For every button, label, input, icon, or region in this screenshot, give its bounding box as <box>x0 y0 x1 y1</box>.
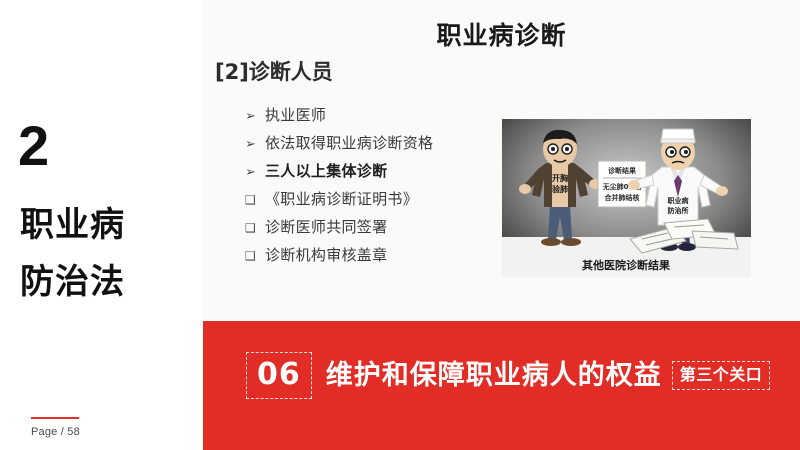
list-item: ❑ 诊断机构审核盖章 <box>245 244 525 272</box>
square-bullet-icon: ❑ <box>245 250 265 262</box>
list-item: ❑ 《职业病诊断证明书》 <box>245 188 525 216</box>
list-item-label: 执业医师 <box>265 104 326 125</box>
banner-badge: 第三个关口 <box>672 361 771 390</box>
bullet-list: ➢ 执业医师 ➢ 依法取得职业病诊断资格 ➢ 三人以上集体诊断 ❑ 《职业病诊断… <box>245 104 525 272</box>
list-item-label: 诊断医师共同签署 <box>265 216 387 237</box>
banner-section-number: 06 <box>246 352 312 399</box>
occupational-disease-diagnosis-cartoon: 开胸 验肺 <box>502 119 751 277</box>
list-item: ❑ 诊断医师共同签署 <box>245 216 525 244</box>
sidebar-title-line-1: 职业病 <box>20 208 125 242</box>
cartoon-illustration-svg: 开胸 验肺 <box>502 119 751 277</box>
page-number-label: Page / 58 <box>31 426 151 438</box>
list-item-label: 诊断机构审核盖章 <box>265 244 387 265</box>
arrow-bullet-icon: ➢ <box>245 109 265 122</box>
square-bullet-icon: ❑ <box>245 194 265 206</box>
section-banner: 06 维护和保障职业病人的权益 第三个关口 <box>203 321 800 450</box>
svg-text:防治所: 防治所 <box>668 206 689 215</box>
arrow-bullet-icon: ➢ <box>245 165 265 178</box>
content-panel: 职业病诊断 [2]诊断人员 ➢ 执业医师 ➢ 依法取得职业病诊断资格 ➢ 三人以… <box>203 0 800 321</box>
section-subtitle: [2]诊断人员 <box>215 56 333 86</box>
slide-canvas: 2 职业病 防治法 Page / 58 职业病诊断 [2]诊断人员 ➢ 执业医师… <box>0 0 800 450</box>
page-divider-rule <box>31 417 79 419</box>
list-item-label: 三人以上集体诊断 <box>265 160 387 181</box>
list-item-label: 依法取得职业病诊断资格 <box>265 132 433 153</box>
svg-text:验肺: 验肺 <box>552 184 568 194</box>
sidebar-title-line-2: 防治法 <box>20 265 125 299</box>
list-item: ➢ 依法取得职业病诊断资格 <box>245 132 525 160</box>
sidebar: 2 职业病 防治法 Page / 58 <box>0 0 200 450</box>
svg-text:合并肺结核: 合并肺结核 <box>604 193 640 202</box>
list-item-label: 《职业病诊断证明书》 <box>265 188 418 209</box>
square-bullet-icon: ❑ <box>245 222 265 234</box>
page-title: 职业病诊断 <box>203 16 800 52</box>
banner-heading: 维护和保障职业病人的权益 <box>326 362 662 389</box>
page-footer: Page / 58 <box>31 417 151 438</box>
svg-text:其他医院诊断结果: 其他医院诊断结果 <box>582 258 670 272</box>
list-item: ➢ 三人以上集体诊断 <box>245 160 525 188</box>
svg-text:开胸: 开胸 <box>552 173 568 183</box>
svg-text:诊断结果: 诊断结果 <box>608 166 636 175</box>
svg-text:职业病: 职业病 <box>668 196 689 205</box>
banner-content: 06 维护和保障职业病人的权益 第三个关口 <box>246 345 792 405</box>
arrow-bullet-icon: ➢ <box>245 137 265 150</box>
chapter-number: 2 <box>18 118 48 174</box>
list-item: ➢ 执业医师 <box>245 104 525 132</box>
